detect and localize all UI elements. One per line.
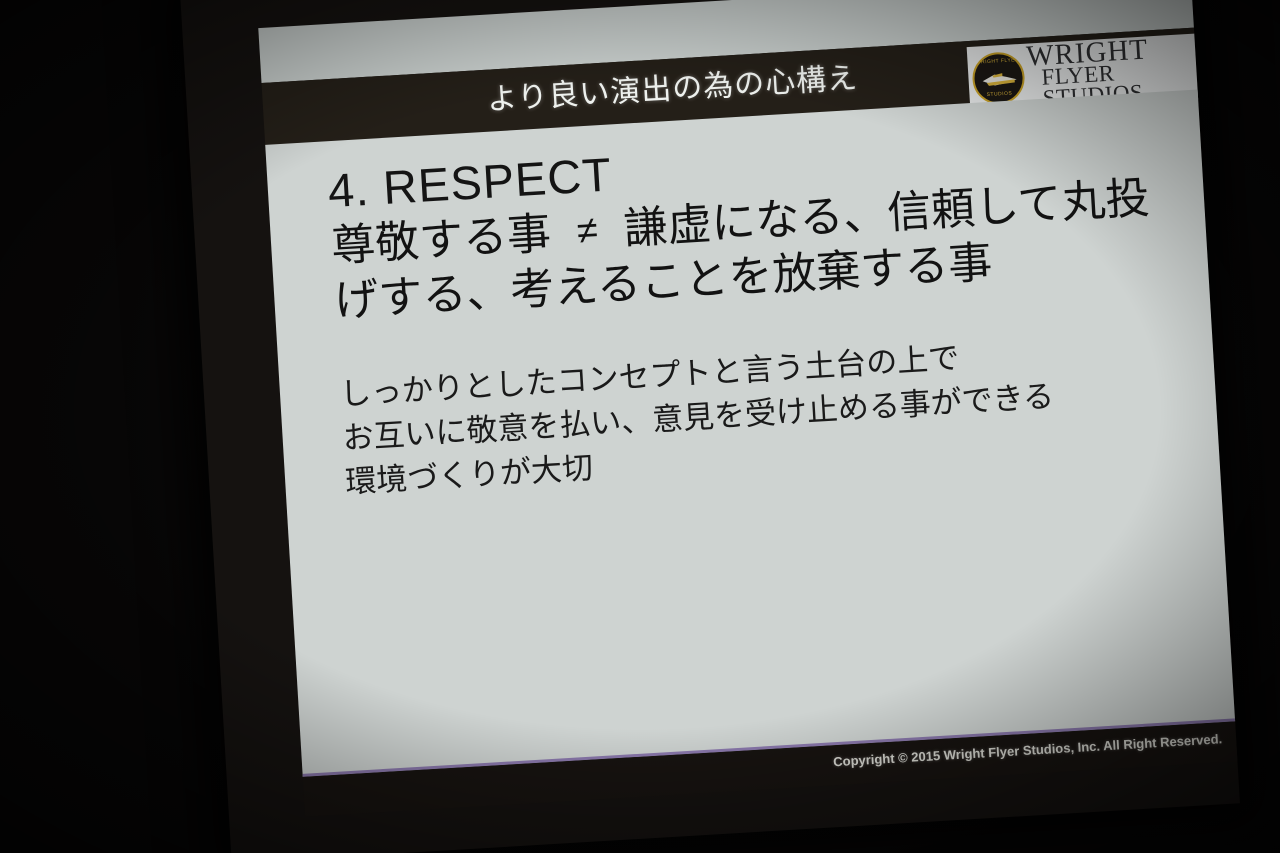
wright-flyer-emblem-icon: WRIGHT FLYER STUDIOS [971, 51, 1026, 106]
slide-content: 4. RESPECT 尊敬する事≠謙虚になる、信頼して丸投げする、考えることを放… [326, 112, 1205, 505]
slide-sub-statement: しっかりとしたコンセプトと言う土台の上で お互いに敬意を払い、意見を受け止める事… [339, 322, 1205, 505]
projection-screen: より良い演出の為の心構え WRIGHT FLYER STUDIOS WRIGHT… [180, 0, 1240, 853]
statement-left-term: 尊敬する事 [330, 209, 553, 271]
slide-body: 4. RESPECT 尊敬する事≠謙虚になる、信頼して丸投げする、考えることを放… [265, 90, 1235, 777]
not-equal-symbol: ≠ [550, 206, 626, 257]
logo-ring-top-text: WRIGHT FLYER [973, 56, 1021, 68]
biplane-icon [980, 70, 1019, 90]
projected-slide-photo: より良い演出の為の心構え WRIGHT FLYER STUDIOS WRIGHT… [0, 0, 1280, 853]
logo-ring-bottom-text: STUDIOS [975, 89, 1023, 101]
